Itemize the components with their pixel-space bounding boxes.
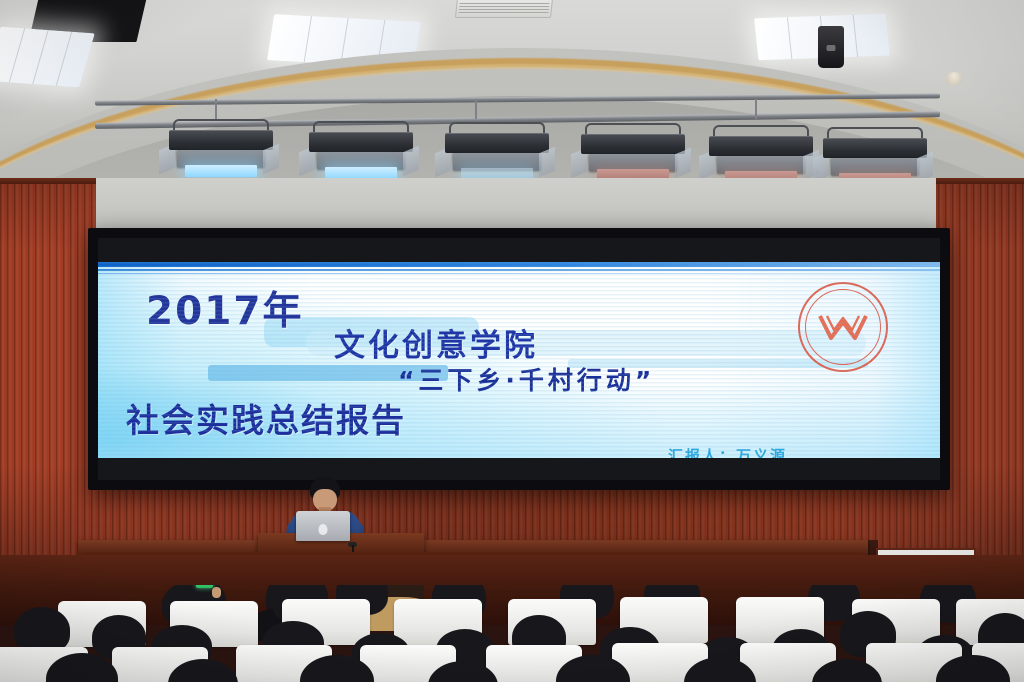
fixture-body: [445, 133, 549, 153]
fixture-body: [309, 132, 413, 152]
screen-inner-area: 2017年 文化创意学院 “三下乡·千村行动” 社会实践总结报告 汇报人：万义源: [98, 238, 940, 480]
macbook-laptop: [296, 511, 350, 543]
slide-main-title: 社会实践总结报告: [126, 394, 406, 442]
slide-text-block: 2017年 文化创意学院 “三下乡·千村行动” 社会实践总结报告 汇报人：万义源: [98, 262, 940, 458]
fixture-beam: [185, 165, 257, 177]
ceiling-projector-icon: [818, 26, 844, 68]
stage-light-fixture: [307, 121, 415, 183]
audience-hand: [212, 587, 221, 598]
truss-rail-upper: [95, 93, 940, 105]
barn-door-flap: [403, 146, 419, 176]
truss-drop-wire: [755, 99, 757, 119]
fixture-body: [823, 138, 927, 158]
slide-theme-line: “三下乡·千村行动”: [398, 361, 655, 397]
stage-light-fixture: [167, 119, 275, 181]
fixture-body: [169, 130, 273, 150]
projection-screen: 2017年 文化创意学院 “三下乡·千村行动” 社会实践总结报告 汇报人：万义源: [88, 228, 950, 490]
slide-college-line: 文化创意学院: [334, 320, 538, 365]
slide-year-line: 2017年: [146, 280, 304, 336]
laptop-lid: [296, 511, 350, 541]
stage-lighting-truss: [95, 95, 940, 190]
fixture-body: [709, 136, 813, 156]
screen-recess-housing: [96, 178, 936, 230]
smoke-detector-icon: [946, 72, 962, 85]
stage-light-fixture: [443, 122, 551, 184]
fixture-body: [581, 134, 685, 154]
barn-door-flap: [539, 147, 555, 177]
barn-door-flap: [263, 144, 279, 174]
stage-light-fixture: [579, 123, 687, 185]
auditorium-photo: 2017年 文化创意学院 “三下乡·千村行动” 社会实践总结报告 汇报人：万义源: [0, 0, 1024, 682]
ceiling-panel-light: [0, 27, 95, 88]
air-vent: [455, 0, 553, 18]
truss-drop-wire: [215, 99, 217, 119]
audience-phone-screen: [196, 585, 213, 588]
barn-door-flap: [675, 148, 691, 178]
apple-logo-icon: [319, 524, 328, 535]
presentation-slide: 2017年 文化创意学院 “三下乡·千村行动” 社会实践总结报告 汇报人：万义源: [98, 262, 940, 458]
audience-seating: [0, 585, 1024, 682]
slide-presenter-line: 汇报人：万义源: [668, 445, 787, 458]
truss-drop-wire: [475, 99, 477, 119]
